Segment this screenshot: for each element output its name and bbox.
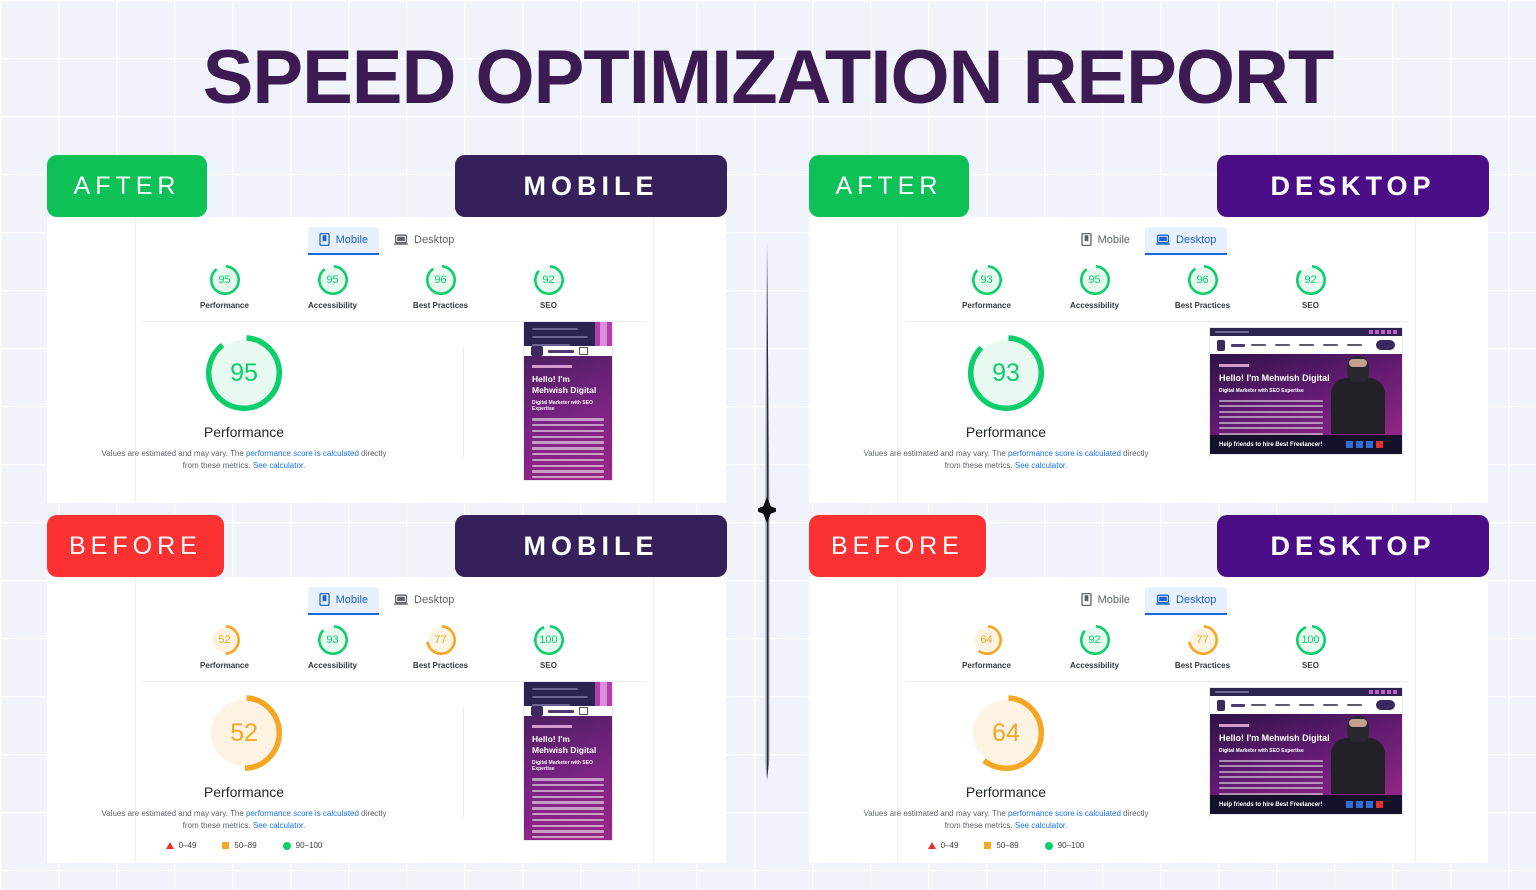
metric-score-row: 52 Performance 93 Accessibility 77 Best … (47, 625, 726, 670)
metric-label: Performance (194, 661, 256, 670)
score-legend: 0–49 50–89 90–100 (59, 841, 429, 850)
site-screenshot-desktop: Hello! I'm Mehwish Digital Digital Marke… (1209, 327, 1403, 455)
laptop-icon (394, 234, 408, 246)
site-topbar (1210, 328, 1402, 336)
site-hero: Hello! I'm Mehwish Digital Digital Marke… (524, 716, 612, 841)
metric-label: Best Practices (1172, 301, 1234, 310)
score-value: 77 (426, 625, 456, 655)
performance-title: Performance (59, 424, 429, 440)
metric-label: Best Practices (1172, 661, 1234, 670)
site-screenshot-mobile: Hello! I'm Mehwish Digital Digital Marke… (523, 681, 613, 841)
performance-note: Values are estimated and may vary. The p… (59, 808, 429, 832)
legend-circle-icon (283, 842, 291, 850)
mobile-phone-icon (319, 233, 330, 246)
tab-desktop[interactable]: Desktop (1145, 227, 1227, 255)
page-title: SPEED OPTIMIZATION REPORT (0, 34, 1536, 121)
column-separator (463, 347, 464, 457)
section-divider (905, 321, 1408, 322)
device-tab-bar[interactable]: Mobile Desktop (47, 587, 726, 615)
legend-item: 50–89 (984, 841, 1018, 850)
score-legend: 0–49 50–89 90–100 (821, 841, 1191, 850)
score-ring: 77 (426, 625, 456, 655)
legend-range: 50–89 (996, 841, 1018, 850)
tab-desktop[interactable]: Desktop (383, 227, 465, 255)
site-subheading: Digital Marketer with SEO Expertise (532, 760, 604, 772)
site-subheading: Digital Marketer with SEO Expertise (532, 400, 604, 412)
legend-range: 90–100 (296, 841, 323, 850)
score-value: 100 (534, 625, 564, 655)
performance-score-link[interactable]: performance score is calculated (1008, 809, 1121, 818)
legend-triangle-icon (928, 842, 936, 849)
report-card-bottom-left: BEFORE MOBILE Mobile Desktop 52 Performa… (47, 515, 726, 863)
mobile-phone-icon (319, 593, 330, 606)
legend-item: 0–49 (928, 841, 959, 850)
legend-item: 90–100 (1045, 841, 1085, 850)
site-topbar (524, 682, 612, 706)
metric-label: Performance (956, 301, 1018, 310)
performance-score-link[interactable]: performance score is calculated (246, 809, 359, 818)
site-nav (1210, 336, 1402, 354)
tab-mobile[interactable]: Mobile (308, 227, 379, 255)
device-badge-mobile: MOBILE (455, 515, 727, 577)
metric-score-performance[interactable]: 95 Performance (194, 265, 256, 310)
site-hero: Hello! I'm Mehwish Digital Digital Marke… (1210, 354, 1402, 454)
score-value: 95 (318, 265, 348, 295)
score-ring: 93 (972, 265, 1002, 295)
metric-score-performance[interactable]: 52 Performance (194, 625, 256, 670)
device-tab-bar[interactable]: Mobile Desktop (809, 227, 1488, 255)
hamburger-menu-icon (579, 707, 588, 715)
tab-label: Desktop (1176, 594, 1216, 606)
laptop-icon (394, 234, 408, 246)
site-logo-icon (531, 346, 543, 356)
performance-title: Performance (821, 784, 1191, 800)
section-divider (905, 681, 1408, 682)
site-footer: Help friends to hire Best Freelancer! (1210, 435, 1402, 454)
legend-triangle-icon (166, 842, 174, 849)
lighthouse-report-panel: Mobile Desktop 93 Performance 95 Accessi… (809, 217, 1488, 503)
tab-label: Mobile (336, 594, 368, 606)
metric-score-seo[interactable]: 100 SEO (1280, 625, 1342, 670)
site-footer-text: Help friends to hire Best Freelancer! (1219, 802, 1322, 808)
lighthouse-report-panel: Mobile Desktop 64 Performance 92 Accessi… (809, 577, 1488, 863)
metric-label: Accessibility (1064, 661, 1126, 670)
score-ring: 64 (972, 625, 1002, 655)
metric-score-accessibility[interactable]: 92 Accessibility (1064, 625, 1126, 670)
metric-label: SEO (1280, 661, 1342, 670)
legend-item: 90–100 (283, 841, 323, 850)
performance-title: Performance (821, 424, 1191, 440)
performance-gauge[interactable]: 52 (206, 695, 282, 771)
site-hero: Hello! I'm Mehwish Digital Digital Marke… (524, 356, 612, 481)
tab-label: Desktop (1176, 234, 1216, 246)
performance-score-link[interactable]: performance score is calculated (1008, 449, 1121, 458)
metric-label: Best Practices (410, 661, 472, 670)
see-calculator-link[interactable]: See calculator. (1015, 461, 1067, 470)
mobile-phone-icon (1081, 593, 1092, 606)
metric-score-seo[interactable]: 92 SEO (1280, 265, 1342, 310)
score-value: 96 (1188, 265, 1218, 295)
report-card-top-left: AFTER MOBILE Mobile Desktop 95 Performan… (47, 155, 726, 503)
score-value: 92 (534, 265, 564, 295)
site-nav (524, 706, 612, 716)
score-ring: 92 (1080, 625, 1110, 655)
score-ring: 95 (318, 265, 348, 295)
performance-gauge[interactable]: 64 (968, 695, 1044, 771)
site-logo-icon (1217, 700, 1225, 711)
mobile-phone-icon (1081, 233, 1092, 246)
state-badge-before: BEFORE (809, 515, 986, 577)
site-footer: Help friends to hire Best Freelancer! (1210, 795, 1402, 814)
score-value: 77 (1188, 625, 1218, 655)
score-ring: 100 (534, 625, 564, 655)
metric-score-row: 64 Performance 92 Accessibility 77 Best … (809, 625, 1488, 670)
metric-label: Accessibility (302, 661, 364, 670)
metric-score-row: 93 Performance 95 Accessibility 96 Best … (809, 265, 1488, 310)
tab-mobile[interactable]: Mobile (1070, 587, 1141, 615)
laptop-icon (394, 594, 408, 606)
site-hero-person-image (1330, 356, 1386, 436)
laptop-icon (1156, 594, 1170, 606)
performance-summary: 93 Performance Values are estimated and … (821, 335, 1191, 472)
metric-label: SEO (1280, 301, 1342, 310)
mobile-phone-icon (319, 233, 330, 246)
tab-label: Mobile (1098, 234, 1130, 246)
site-nav (524, 346, 612, 356)
site-heading: Hello! I'm Mehwish Digital (532, 374, 604, 395)
score-value: 93 (972, 265, 1002, 295)
performance-score-link[interactable]: performance score is calculated (246, 449, 359, 458)
site-hero: Hello! I'm Mehwish Digital Digital Marke… (1210, 714, 1402, 814)
score-value: 92 (1296, 265, 1326, 295)
device-tab-bar[interactable]: Mobile Desktop (47, 227, 726, 255)
site-logo-icon (531, 706, 543, 716)
performance-score-value: 64 (968, 695, 1044, 771)
report-card-bottom-right: BEFORE DESKTOP Mobile Desktop 64 Perform… (809, 515, 1488, 863)
legend-circle-icon (1045, 842, 1053, 850)
metric-label: Performance (956, 661, 1018, 670)
score-value: 100 (1296, 625, 1326, 655)
score-ring: 95 (210, 265, 240, 295)
performance-score-value: 93 (968, 335, 1044, 411)
performance-score-value: 95 (206, 335, 282, 411)
metric-score-accessibility[interactable]: 93 Accessibility (302, 625, 364, 670)
metric-score-best-practices[interactable]: 96 Best Practices (410, 265, 472, 310)
tab-mobile[interactable]: Mobile (308, 587, 379, 615)
laptop-icon (1156, 234, 1170, 246)
metric-score-best-practices[interactable]: 77 Best Practices (410, 625, 472, 670)
legend-square-icon (984, 842, 991, 849)
score-value: 96 (426, 265, 456, 295)
hamburger-menu-icon (579, 347, 588, 355)
metric-score-accessibility[interactable]: 95 Accessibility (302, 265, 364, 310)
performance-title: Performance (59, 784, 429, 800)
see-calculator-link[interactable]: See calculator. (1015, 821, 1067, 830)
score-value: 52 (210, 625, 240, 655)
state-badge-after: AFTER (809, 155, 969, 217)
site-logo-icon (1217, 340, 1225, 351)
score-value: 95 (1080, 265, 1110, 295)
legend-range: 0–49 (179, 841, 197, 850)
tab-label: Mobile (1098, 594, 1130, 606)
site-nav (1210, 696, 1402, 714)
site-footer-text: Help friends to hire Best Freelancer! (1219, 442, 1322, 448)
performance-note: Values are estimated and may vary. The p… (821, 808, 1191, 832)
site-cta-button (1376, 700, 1395, 710)
metric-label: Accessibility (302, 301, 364, 310)
laptop-icon (394, 594, 408, 606)
performance-gauge[interactable]: 93 (968, 335, 1044, 411)
device-badge-desktop: DESKTOP (1217, 515, 1489, 577)
state-badge-before: BEFORE (47, 515, 224, 577)
legend-range: 50–89 (234, 841, 256, 850)
score-value: 95 (210, 265, 240, 295)
legend-range: 0–49 (941, 841, 959, 850)
tab-desktop[interactable]: Desktop (1145, 587, 1227, 615)
metric-label: SEO (518, 661, 580, 670)
metric-score-seo[interactable]: 92 SEO (518, 265, 580, 310)
state-badge-after: AFTER (47, 155, 207, 217)
score-ring: 52 (210, 625, 240, 655)
tab-desktop[interactable]: Desktop (383, 587, 465, 615)
score-value: 92 (1080, 625, 1110, 655)
legend-range: 90–100 (1058, 841, 1085, 850)
score-ring: 96 (1188, 265, 1218, 295)
performance-note: Values are estimated and may vary. The p… (59, 448, 429, 472)
site-topbar (524, 322, 612, 346)
score-ring: 100 (1296, 625, 1326, 655)
mobile-phone-icon (1081, 593, 1092, 606)
metric-score-seo[interactable]: 100 SEO (518, 625, 580, 670)
performance-summary: 64 Performance Values are estimated and … (821, 695, 1191, 850)
metric-score-best-practices[interactable]: 77 Best Practices (1172, 625, 1234, 670)
tab-label: Mobile (336, 234, 368, 246)
site-screenshot-desktop: Hello! I'm Mehwish Digital Digital Marke… (1209, 687, 1403, 815)
metric-score-performance[interactable]: 64 Performance (956, 625, 1018, 670)
site-topbar (1210, 688, 1402, 696)
legend-square-icon (222, 842, 229, 849)
metric-label: Accessibility (1064, 301, 1126, 310)
device-tab-bar[interactable]: Mobile Desktop (809, 587, 1488, 615)
tab-label: Desktop (414, 234, 454, 246)
laptop-icon (1156, 594, 1170, 606)
device-badge-mobile: MOBILE (455, 155, 727, 217)
performance-note: Values are estimated and may vary. The p… (821, 448, 1191, 472)
tab-mobile[interactable]: Mobile (1070, 227, 1141, 255)
device-badge-desktop: DESKTOP (1217, 155, 1489, 217)
report-card-top-right: AFTER DESKTOP Mobile Desktop 93 Performa… (809, 155, 1488, 503)
score-ring: 96 (426, 265, 456, 295)
see-calculator-link[interactable]: See calculator. (253, 461, 305, 470)
score-ring: 93 (318, 625, 348, 655)
legend-item: 50–89 (222, 841, 256, 850)
metric-label: Performance (194, 301, 256, 310)
metric-label: SEO (518, 301, 580, 310)
metric-score-row: 95 Performance 95 Accessibility 96 Best … (47, 265, 726, 310)
metric-score-best-practices[interactable]: 96 Best Practices (1172, 265, 1234, 310)
score-value: 93 (318, 625, 348, 655)
site-heading: Hello! I'm Mehwish Digital (532, 734, 604, 755)
site-screenshot-mobile: Hello! I'm Mehwish Digital Digital Marke… (523, 321, 613, 481)
lighthouse-report-panel: Mobile Desktop 52 Performance 93 Accessi… (47, 577, 726, 863)
mobile-phone-icon (319, 593, 330, 606)
legend-item: 0–49 (166, 841, 197, 850)
metric-label: Best Practices (410, 301, 472, 310)
site-hero-person-image (1330, 716, 1386, 796)
score-value: 64 (972, 625, 1002, 655)
metric-score-accessibility[interactable]: 95 Accessibility (1064, 265, 1126, 310)
performance-gauge[interactable]: 95 (206, 335, 282, 411)
score-ring: 77 (1188, 625, 1218, 655)
site-cta-button (1376, 340, 1395, 350)
column-separator (463, 707, 464, 817)
mobile-phone-icon (1081, 233, 1092, 246)
score-ring: 92 (534, 265, 564, 295)
performance-summary: 95 Performance Values are estimated and … (59, 335, 429, 472)
lighthouse-report-panel: Mobile Desktop 95 Performance 95 Accessi… (47, 217, 726, 503)
score-ring: 92 (1296, 265, 1326, 295)
metric-score-performance[interactable]: 93 Performance (956, 265, 1018, 310)
center-divider-ornament (758, 240, 776, 780)
performance-summary: 52 Performance Values are estimated and … (59, 695, 429, 850)
score-ring: 95 (1080, 265, 1110, 295)
see-calculator-link[interactable]: See calculator. (253, 821, 305, 830)
laptop-icon (1156, 234, 1170, 246)
performance-score-value: 52 (206, 695, 282, 771)
tab-label: Desktop (414, 594, 454, 606)
